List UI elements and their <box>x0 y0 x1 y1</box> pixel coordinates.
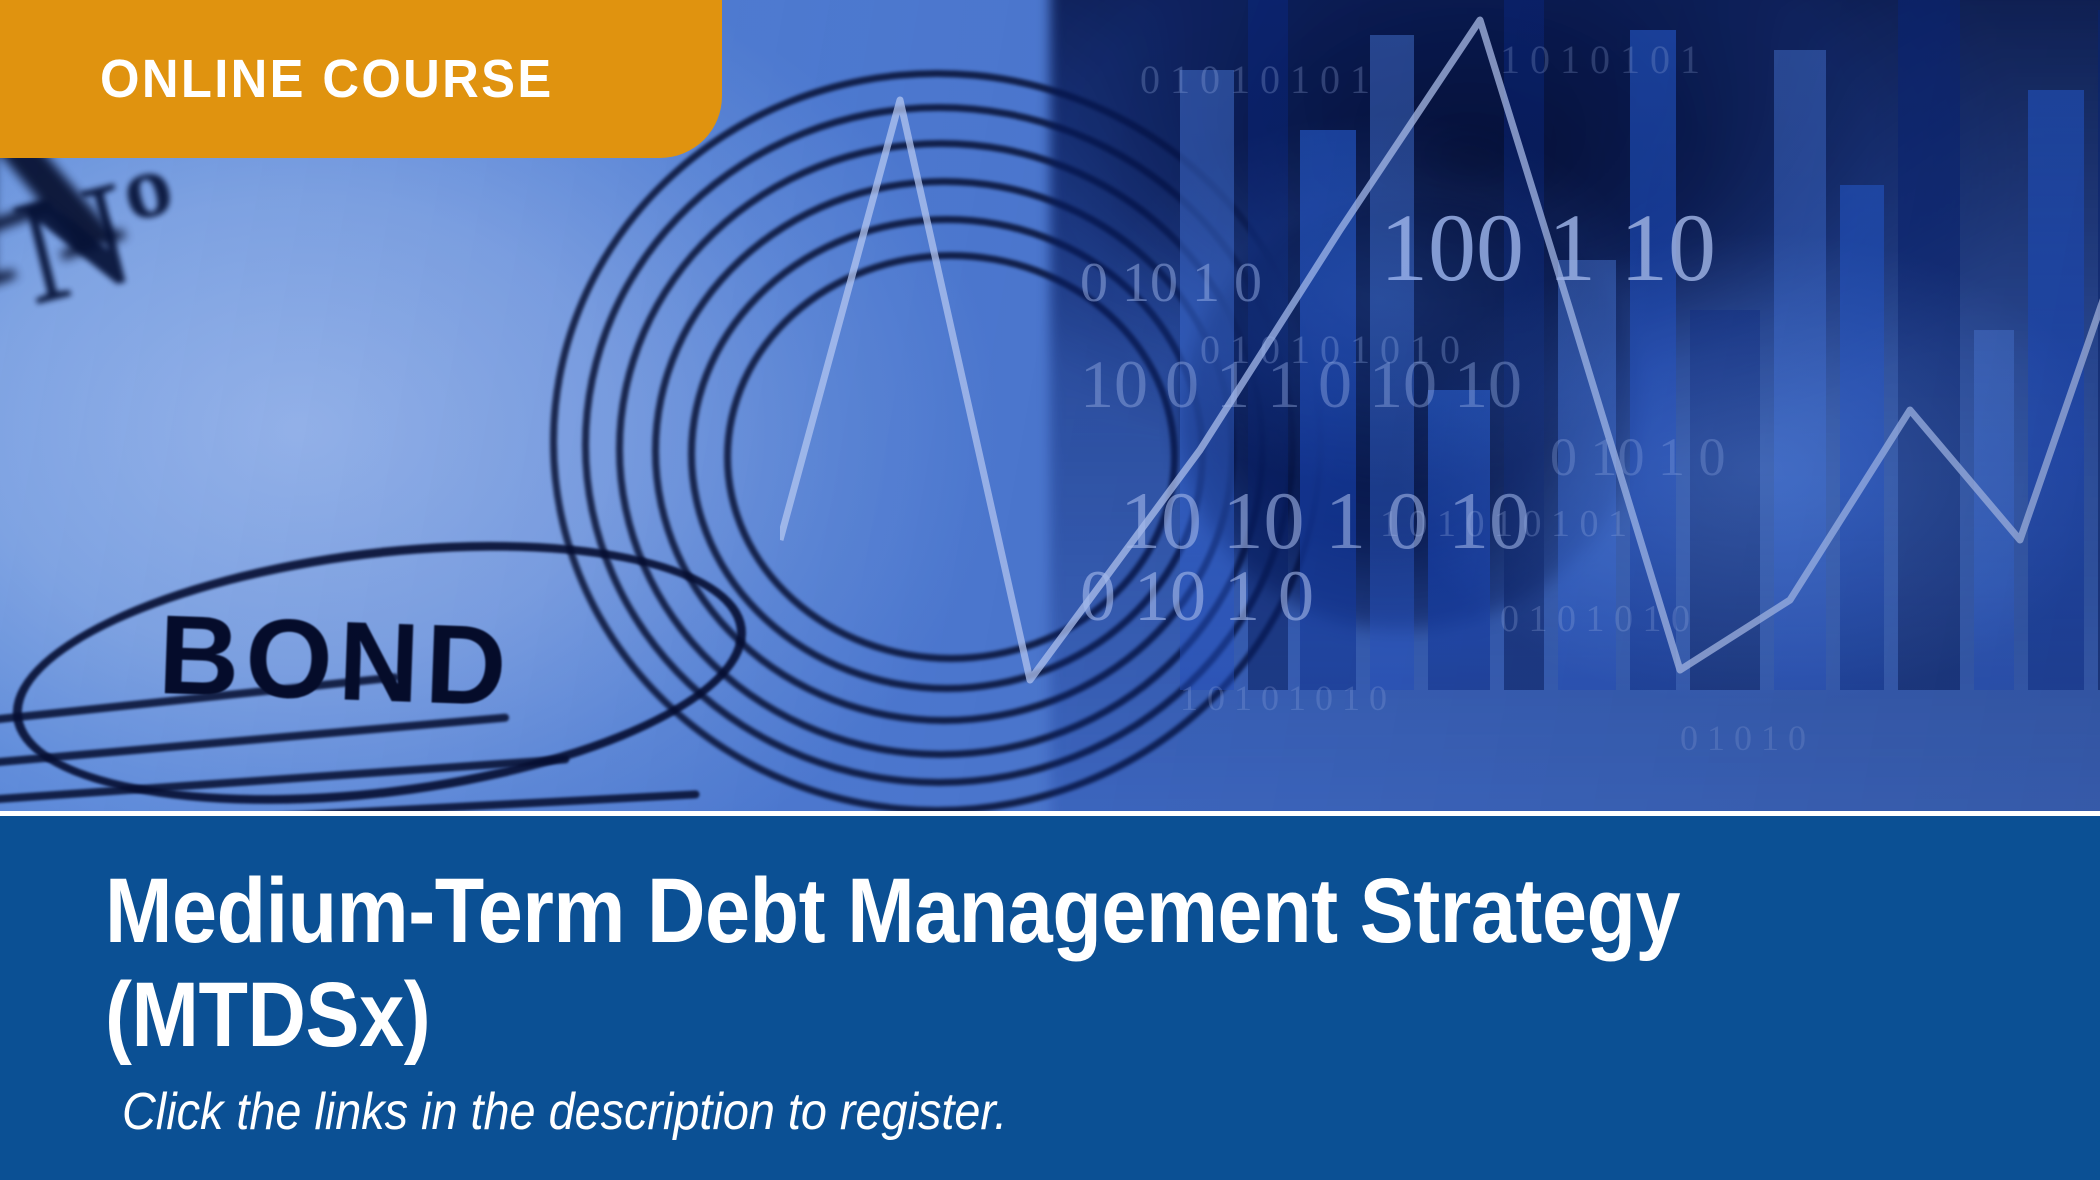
online-course-badge: ONLINE COURSE <box>0 0 722 158</box>
title-panel: Medium-Term Debt Management Strategy (MT… <box>0 816 2100 1180</box>
course-subtitle: Click the links in the description to re… <box>122 1082 1007 1142</box>
online-course-badge-label: ONLINE COURSE <box>100 48 554 110</box>
divider <box>0 811 2100 816</box>
course-banner: A Nº BOND <box>0 0 2100 1180</box>
course-title: Medium-Term Debt Management Strategy (MT… <box>105 860 1777 1068</box>
